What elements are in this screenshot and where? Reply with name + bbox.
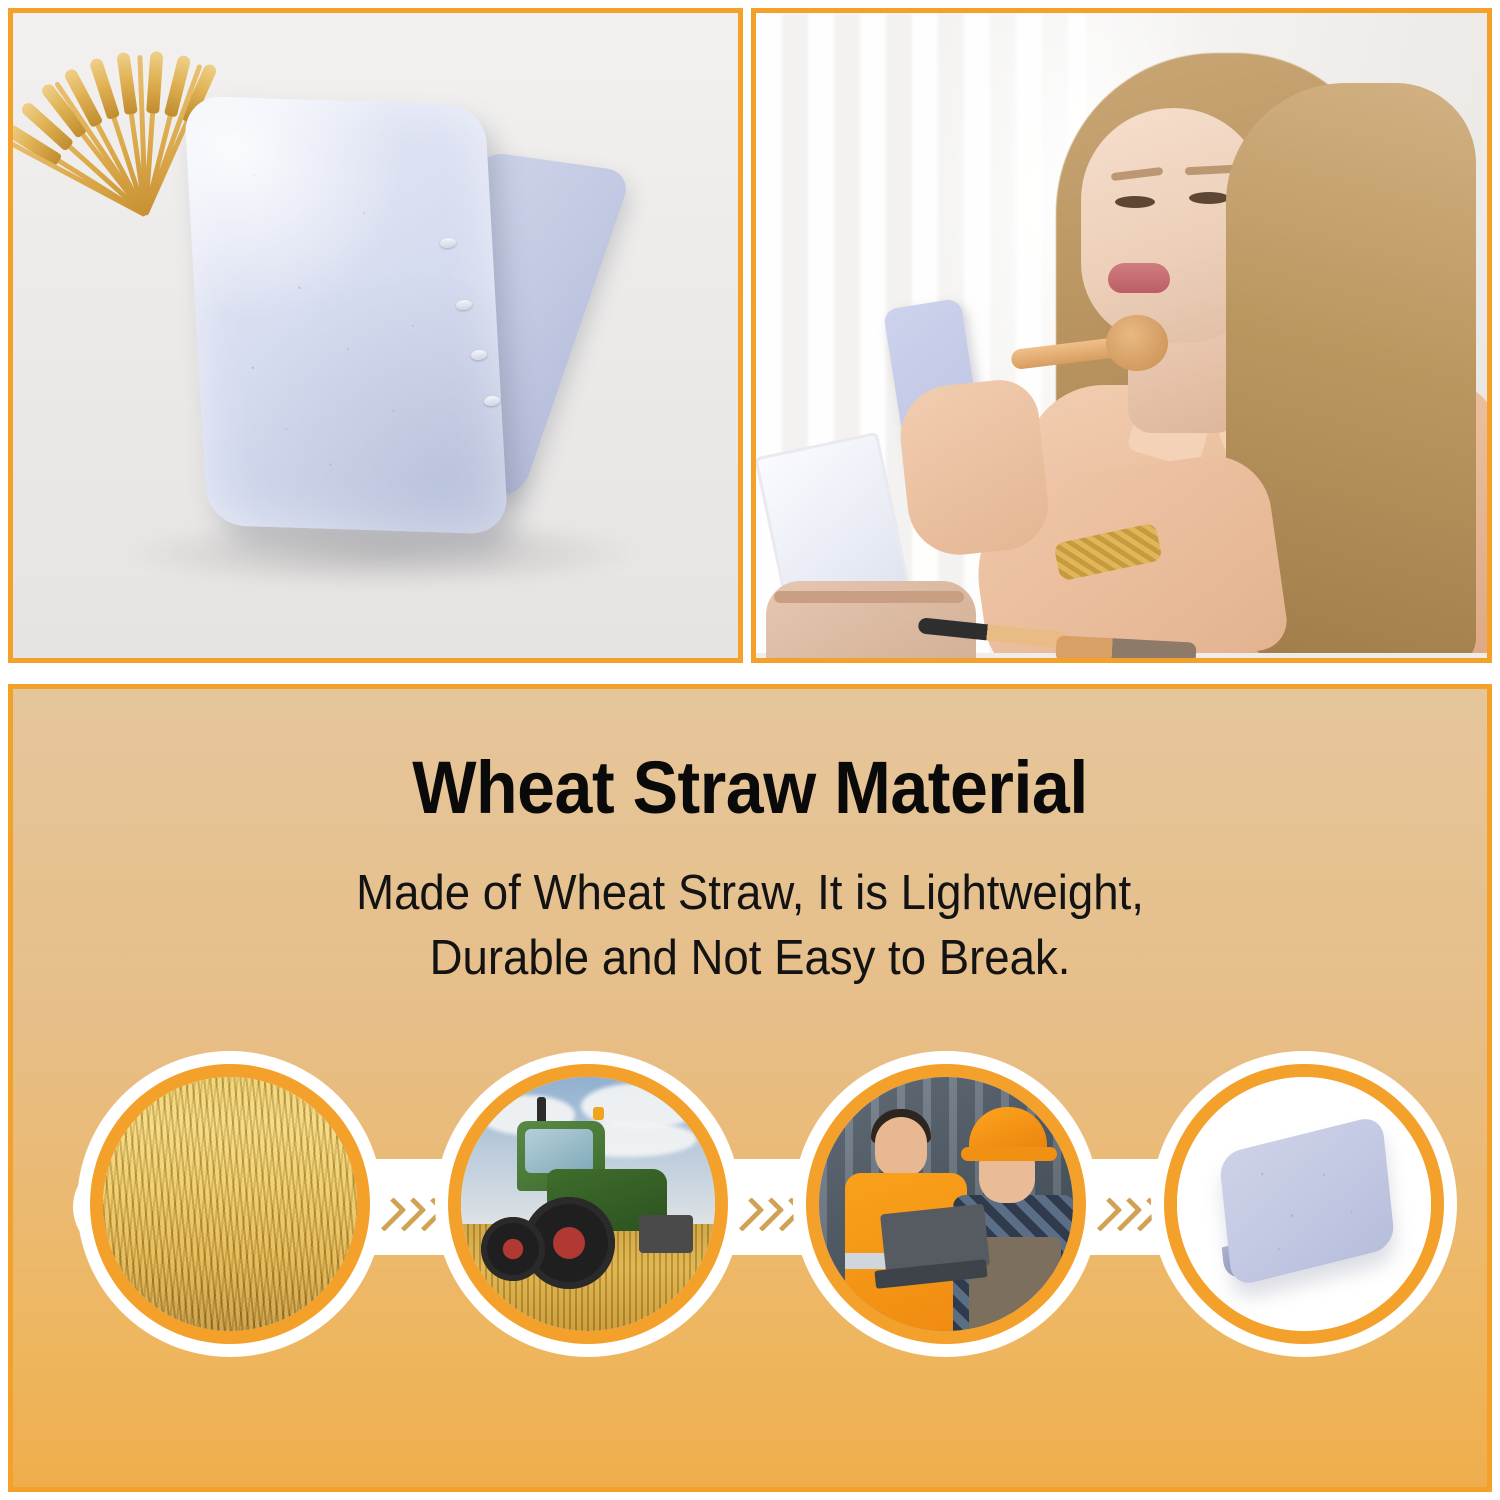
eyebrow-left [1111, 167, 1164, 181]
product-photo-panel [8, 8, 743, 663]
flow-step-harvest [435, 1051, 741, 1357]
chevron-double-right-icon [1095, 1191, 1155, 1237]
flow-step-finished-product [1151, 1051, 1457, 1357]
makeup-brush-head [1106, 315, 1168, 371]
lips [1108, 263, 1170, 293]
eye-left [1115, 196, 1155, 208]
feature-subtext-line2: Durable and Not Easy to Break. [65, 926, 1436, 991]
infographic-canvas: Wheat Straw Material Made of Wheat Straw… [0, 0, 1500, 1500]
finished-compact-photo [1177, 1077, 1431, 1331]
flow-step-wheat-field [77, 1051, 383, 1357]
chevron-double-right-icon [737, 1191, 797, 1237]
factory-workers-photo [819, 1077, 1073, 1331]
closed-compact-mirror [1219, 1114, 1396, 1287]
feature-headline: Wheat Straw Material [72, 751, 1428, 825]
wheat-field-photo [103, 1077, 357, 1331]
flow-step-manufacturing [793, 1051, 1099, 1357]
lifestyle-photo-panel [751, 8, 1492, 663]
feature-subtext-line1: Made of Wheat Straw, It is Lightweight, [65, 861, 1436, 926]
eye-right [1189, 192, 1229, 204]
compact-front-lid [183, 96, 508, 535]
chevron-double-right-icon [379, 1191, 439, 1237]
hand-holding-mirror [895, 376, 1052, 560]
feature-info-panel: Wheat Straw Material Made of Wheat Straw… [8, 684, 1492, 1492]
process-flow [13, 1041, 1492, 1371]
pouch-zipper [774, 591, 964, 603]
feature-subtext: Made of Wheat Straw, It is Lightweight, … [65, 861, 1436, 990]
open-compact-mirror [188, 88, 608, 558]
tractor-harvest-photo [461, 1077, 715, 1331]
wheat-straw-speckle-texture [183, 96, 508, 535]
